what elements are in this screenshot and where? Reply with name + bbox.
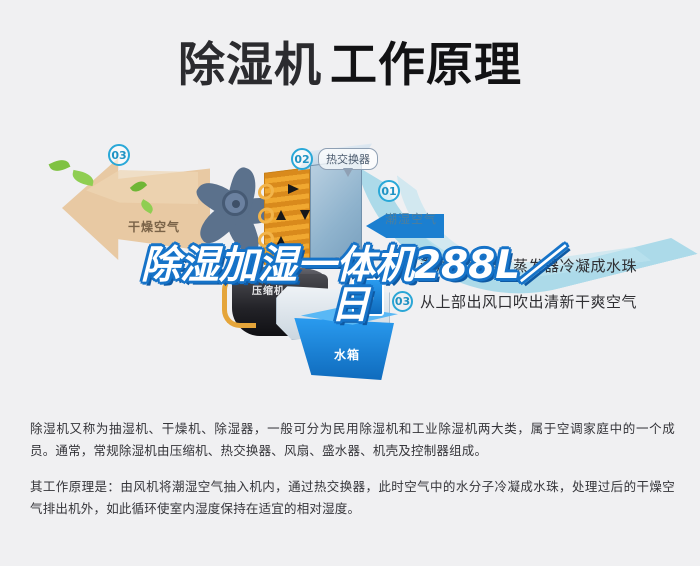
legend-item: 03 从上部出风口吹出清新干爽空气: [392, 291, 692, 312]
water-tank-illustration: 水箱: [288, 304, 406, 384]
legend-number: 03: [392, 291, 413, 312]
legend-number: 02: [392, 255, 413, 276]
legend-label: 潮湿空气经过蒸发器冷凝成水珠: [420, 255, 637, 276]
water-tank-label: 水箱: [334, 346, 360, 363]
callout-number-03: 03: [108, 144, 130, 166]
leaf-icon: [71, 170, 95, 186]
legend-label: 从上部出风口吹出清新干爽空气: [420, 291, 637, 312]
callout-number-01: 01: [378, 180, 400, 202]
airflow-arrow-up-icon: [276, 236, 286, 246]
heat-exchanger-block: [310, 159, 362, 261]
page-title: 除湿机工作原理: [0, 26, 700, 95]
legend-item: 02 潮湿空气经过蒸发器冷凝成水珠: [392, 255, 692, 276]
paragraph-2: 其工作原理是：由风机将潮湿空气抽入机内，通过热交换器，此时空气中的水分子冷凝成水…: [30, 476, 675, 520]
humid-air-label: 潮湿空气: [385, 210, 437, 227]
callout-number-02: 02: [291, 148, 313, 170]
water-droplet-badge: [352, 278, 384, 316]
legend-list: 02 潮湿空气经过蒸发器冷凝成水珠 03 从上部出风口吹出清新干爽空气: [392, 255, 692, 327]
leaf-icon: [49, 157, 71, 175]
description-text: 除湿机又称为抽湿机、干燥机、除湿器，一般可分为民用除湿机和工业除湿机两大类，属于…: [30, 418, 675, 520]
airflow-arrow-down-icon: [300, 210, 310, 220]
heat-exchanger-tag: 热交换器: [318, 148, 378, 170]
fan-hub: [222, 190, 248, 216]
title-part-2: 工作原理: [330, 38, 522, 93]
dry-air-label: 干燥空气: [128, 218, 180, 235]
airflow-arrow-up-icon: [276, 210, 286, 220]
paragraph-1: 除湿机又称为抽湿机、干燥机、除湿器，一般可分为民用除湿机和工业除湿机两大类，属于…: [30, 418, 675, 462]
compressor-pipe: [222, 272, 256, 328]
title-part-1: 除湿机: [178, 38, 322, 93]
droplet-icon: [364, 289, 374, 303]
airflow-arrow-right-icon: [288, 184, 299, 194]
